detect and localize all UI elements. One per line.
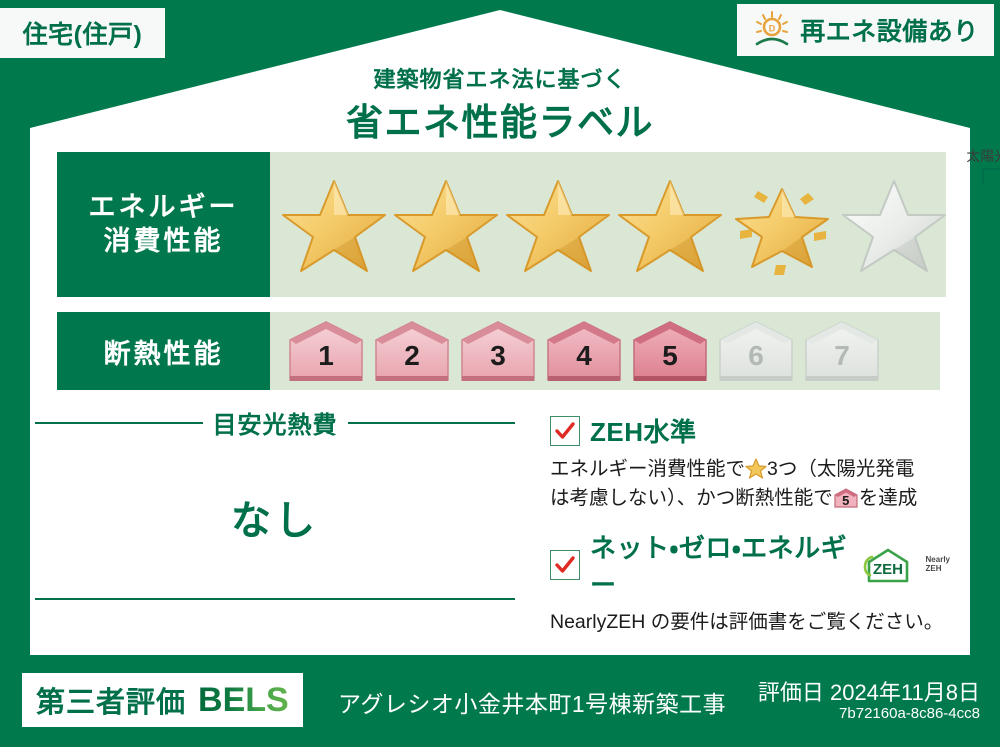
insulation-level-2-number: 2 — [370, 340, 454, 372]
badge-building-type: 住宅(住戸) — [0, 8, 165, 58]
zeh-netzero-description: NearlyZEH の要件は評価書をご覧ください。 — [550, 608, 950, 637]
evaluation-date: 評価日 2024年11月8日 — [758, 675, 980, 707]
energy-performance-label-box: エネルギー 消費性能 — [57, 152, 270, 297]
energy-label-line2: 消費性能 — [104, 225, 224, 259]
zeh-standard-heading: ZEH水準 — [590, 412, 697, 449]
energy-performance-row: エネルギー 消費性能 — [57, 152, 940, 297]
zeh-standard-checkbox[interactable] — [550, 416, 580, 446]
star-icon-2 — [394, 175, 498, 275]
utility-cost-value: なし — [35, 488, 515, 546]
inline-star-icon — [745, 458, 767, 479]
zeh-block: ZEH水準 エネルギー消費性能で3つ（太陽光発電 は考慮しない）、かつ断熱性能で… — [550, 412, 950, 637]
star-icon-6-empty — [842, 175, 946, 275]
bels-logo-box: 第三者評価 BELS — [22, 673, 303, 727]
cost-rule-left — [35, 422, 203, 424]
svg-text:ZEH: ZEH — [873, 561, 903, 578]
insulation-level-track: 1 2 3 — [270, 312, 940, 390]
badge-renewable-equipment: D 再エネ設備あり — [737, 4, 994, 56]
insulation-level-4: 4 — [542, 318, 626, 384]
energy-star-track: 太陽光発電(自家消費)分 — [270, 152, 946, 297]
zeh-standard-description: エネルギー消費性能で3つ（太陽光発電 は考慮しない）、かつ断熱性能で5を達成 — [550, 455, 950, 514]
star-icon-4 — [618, 175, 722, 275]
property-name: アグレシオ小金井本町1号棟新築工事 — [338, 685, 726, 719]
insulation-level-7-number: 7 — [800, 340, 884, 372]
insulation-level-3: 3 — [456, 318, 540, 384]
insulation-level-2: 2 — [370, 318, 454, 384]
check-icon — [554, 420, 576, 442]
energy-performance-label: 住宅(住戸) D 再エネ設備あり 建築物省エネ法に基づく 省エネ性 — [0, 0, 1000, 747]
energy-label-line1: エネルギー — [89, 191, 239, 225]
utility-cost-header: 目安光熱費 — [35, 405, 515, 440]
utility-cost-title: 目安光熱費 — [213, 405, 338, 440]
insulation-label: 断熱性能 — [104, 332, 224, 371]
insulation-performance-row: 断熱性能 1 — [57, 312, 940, 390]
star-icon-5-solar — [730, 175, 834, 275]
cost-rule-bottom — [35, 598, 515, 600]
insulation-level-7: 7 — [800, 318, 884, 384]
zeh-netzero-heading: ネット・ゼロ・エネルギー — [590, 528, 849, 602]
insulation-performance-label-box: 断熱性能 — [57, 312, 270, 390]
cost-rule-right — [348, 422, 516, 424]
zeh-netzero-row: ネット・ゼロ・エネルギー ZEH Nearly ZEH — [550, 528, 950, 602]
solar-sun-icon: D — [752, 10, 792, 50]
insulation-level-5: 5 — [628, 318, 712, 384]
solar-annotation-text: 太陽光発電(自家消費)分 — [926, 146, 1000, 166]
utility-cost-block: 目安光熱費 なし — [35, 405, 515, 600]
label-title: 省エネ性能ラベル — [0, 92, 1000, 146]
insulation-level-5-number: 5 — [628, 340, 712, 372]
inline-house-level-number: 5 — [833, 487, 859, 509]
insulation-level-1: 1 — [284, 318, 368, 384]
zeh-standard-row: ZEH水準 — [550, 412, 950, 449]
star-icon-3 — [506, 175, 610, 275]
insulation-level-6-number: 6 — [714, 340, 798, 372]
star-icon-1 — [282, 175, 386, 275]
zeh-desc-star-count: 3つ（太陽光発電 — [767, 458, 914, 480]
bels-en-label: BELS — [198, 681, 289, 720]
bels-jp-label: 第三者評価 — [36, 679, 186, 721]
zeh-logo-caption-line2: ZEH — [926, 564, 942, 573]
zeh-netzero-checkbox[interactable] — [550, 550, 580, 580]
check-icon — [554, 554, 576, 576]
zeh-desc-part3: を達成 — [859, 487, 918, 509]
zeh-desc-part1: エネルギー消費性能で — [550, 458, 745, 480]
label-subtitle: 建築物省エネ法に基づく — [0, 62, 1000, 94]
insulation-level-1-number: 1 — [284, 340, 368, 372]
zeh-logo-caption: Nearly ZEH — [926, 556, 950, 573]
zeh-logo-icon: ZEH — [861, 545, 915, 585]
insulation-level-3-number: 3 — [456, 340, 540, 372]
building-type-label: 住宅(住戸) — [23, 15, 143, 51]
zeh-desc-part2: は考慮しない）、かつ断熱性能で — [550, 487, 833, 509]
solar-annotation-bracket — [982, 168, 1000, 184]
inline-house-level-icon: 5 — [833, 487, 859, 509]
renewable-label: 再エネ設備あり — [800, 12, 979, 48]
label-footer: 第三者評価 BELS アグレシオ小金井本町1号棟新築工事 評価日 2024年11… — [0, 659, 1000, 747]
evaluation-id: 7b72160a-8c86-4cc8 — [839, 705, 980, 722]
insulation-level-6: 6 — [714, 318, 798, 384]
svg-text:D: D — [769, 24, 776, 34]
insulation-level-4-number: 4 — [542, 340, 626, 372]
